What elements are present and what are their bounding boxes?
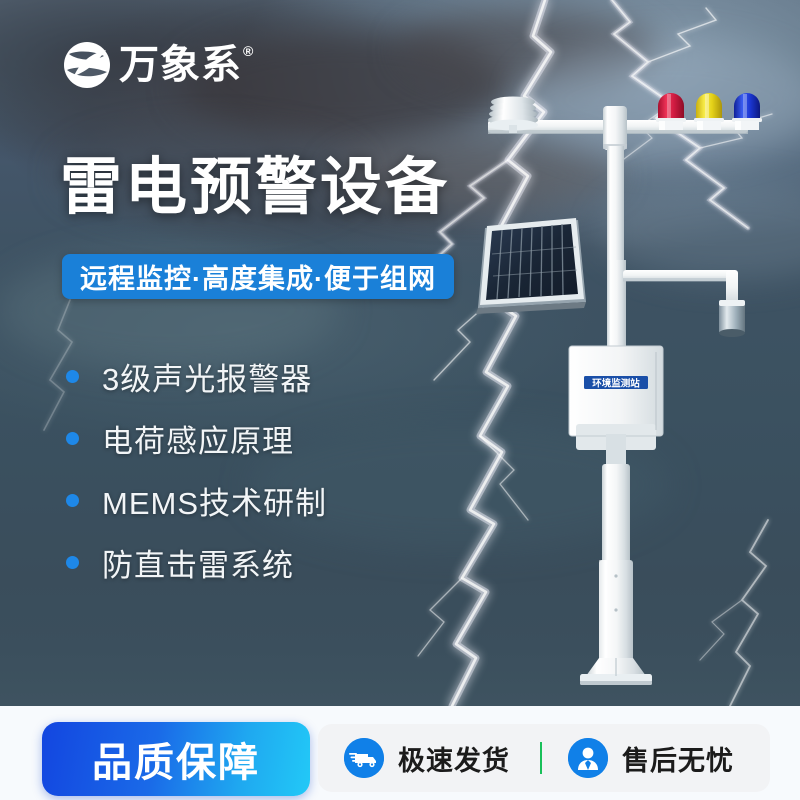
solar-panel bbox=[476, 218, 586, 314]
quality-guarantee-label: 品质保障 bbox=[92, 730, 260, 788]
customer-service-person-icon bbox=[568, 738, 608, 778]
base-flange bbox=[580, 658, 652, 685]
downward-cylinder-sensor bbox=[719, 300, 745, 337]
badge-label: 售后无忧 bbox=[622, 739, 734, 778]
yellow-alarm-beacon bbox=[694, 93, 724, 130]
quality-guarantee-badge[interactable]: 品质保障 bbox=[42, 722, 310, 796]
side-arm-with-sensor bbox=[623, 270, 745, 337]
badge-fast-shipping[interactable]: 极速发货 bbox=[318, 724, 510, 792]
feature-label: 防直击雷系统 bbox=[102, 540, 294, 585]
pole-collar bbox=[603, 106, 627, 150]
lower-pole bbox=[599, 434, 633, 666]
globe-swoosh-logo-icon bbox=[62, 40, 112, 90]
brand-name: 万象系 bbox=[119, 40, 242, 90]
page-title: 雷电预警设备 bbox=[60, 157, 450, 219]
badge-after-sales[interactable]: 售后无忧 bbox=[542, 724, 734, 792]
delivery-truck-icon bbox=[344, 738, 384, 778]
list-item: MEMS技术研制 bbox=[66, 469, 486, 531]
radiation-shield-sensor bbox=[488, 97, 538, 134]
list-item: 防直击雷系统 bbox=[66, 531, 486, 593]
list-item: 电荷感应原理 bbox=[66, 407, 486, 469]
feature-label: 电荷感应原理 bbox=[102, 416, 294, 461]
enclosure-label: 环境监测站 bbox=[592, 378, 640, 390]
red-alarm-beacon bbox=[656, 93, 686, 130]
trademark-symbol: ® bbox=[243, 44, 253, 58]
alarm-beacon-group bbox=[656, 93, 762, 130]
feature-label: 3级声光报警器 bbox=[102, 354, 312, 399]
blue-alarm-beacon bbox=[732, 93, 762, 130]
upper-pole bbox=[607, 146, 624, 262]
list-item: 3级声光报警器 bbox=[66, 345, 486, 407]
feature-list: 3级声光报警器 电荷感应原理 MEMS技术研制 防直击雷系统 bbox=[66, 345, 486, 593]
brand-logo: 万象系 ® bbox=[62, 40, 253, 92]
bullet-dot-icon bbox=[66, 494, 79, 507]
badge-label: 极速发货 bbox=[398, 739, 510, 778]
feature-label: MEMS技术研制 bbox=[102, 478, 327, 523]
subtitle-banner: 远程监控·高度集成·便于组网 bbox=[62, 254, 454, 299]
bullet-dot-icon bbox=[66, 370, 79, 383]
bullet-dot-icon bbox=[66, 556, 79, 569]
product-poster: 环境监测站 万象系 ® 雷电预警设备 远程监 bbox=[0, 0, 800, 800]
bullet-dot-icon bbox=[66, 432, 79, 445]
service-badge-bar: 极速发货 售后无忧 bbox=[318, 724, 770, 792]
